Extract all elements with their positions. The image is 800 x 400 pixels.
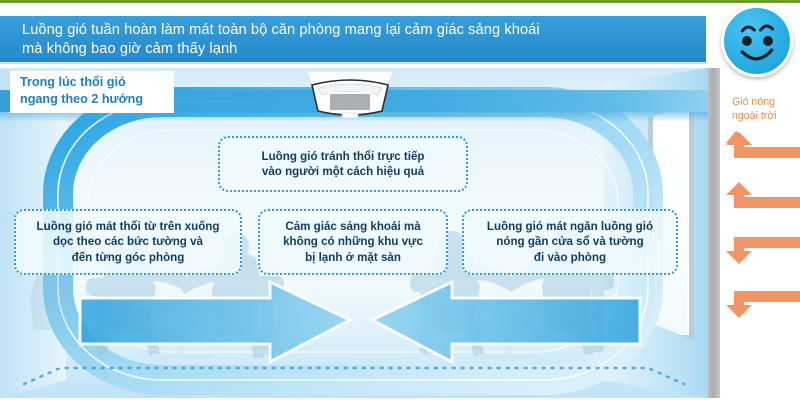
outdoor-hot-air-label: Gió nóng ngoài trời [732, 95, 796, 123]
infographic-canvas: Luồng gió tuần hoàn làm mát toàn bộ căn … [0, 0, 800, 400]
hot-air-arrow-up-icon [718, 181, 800, 230]
callout-no-cold-floor-areas: Cảm giác sảng khoái mà không có những kh… [258, 209, 448, 275]
ceiling-cassette-air-conditioner-icon [302, 71, 398, 123]
callout-cool-air-down-walls: Luồng gió mát thổi từ trên xuống dọc the… [14, 209, 242, 275]
mode-label: Trong lúc thổi gió ngang theo 2 hướng [10, 71, 174, 113]
floor-airflow-arrows [0, 268, 708, 388]
hot-air-arrow-up-icon [718, 131, 800, 180]
smiley-face-icon [721, 5, 793, 77]
exterior-wall [708, 68, 720, 398]
hot-air-arrow-down-icon [718, 235, 800, 284]
hot-air-arrow-down-icon [718, 289, 800, 338]
airflow-arrow-right-icon [80, 282, 350, 362]
callout-blocks-hot-air: Luồng gió mát ngăn luồng gió nóng gần cử… [462, 209, 678, 275]
header-bar: Luồng gió tuần hoàn làm mát toàn bộ căn … [0, 16, 706, 64]
callout-avoid-direct-airflow: Luồng gió tránh thổi trực tiếp vào người… [218, 136, 468, 192]
airflow-arrow-left-icon [372, 282, 640, 362]
page-title: Luồng gió tuần hoàn làm mát toàn bộ căn … [22, 21, 682, 59]
